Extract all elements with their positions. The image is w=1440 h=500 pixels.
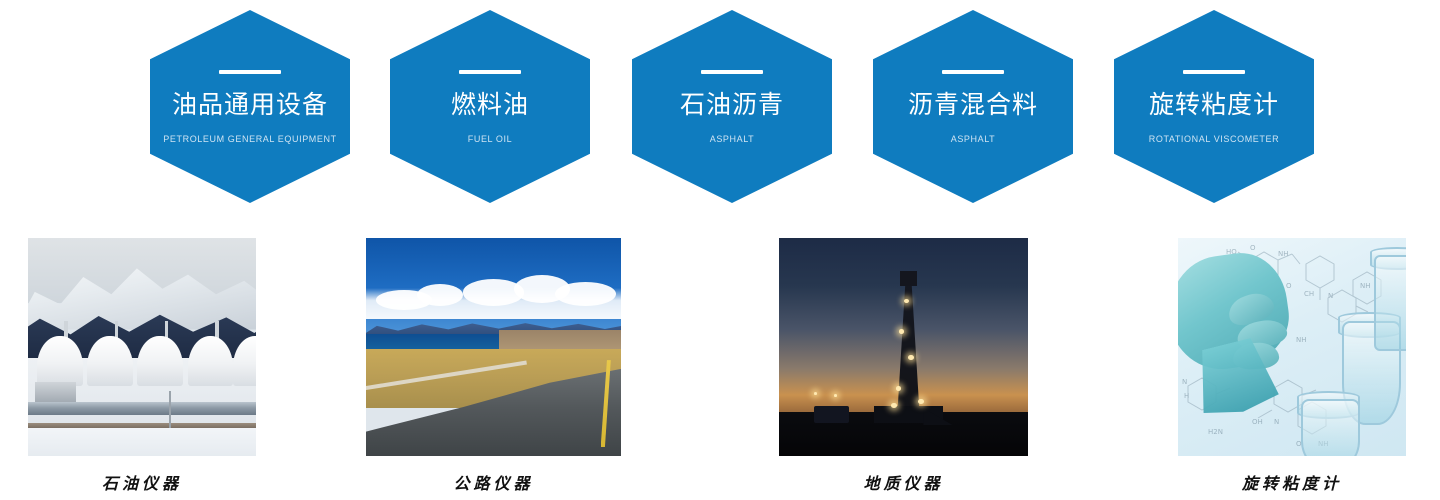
svg-text:O: O <box>1250 244 1256 252</box>
gallery-image-geological-instruments <box>779 238 1028 456</box>
svg-text:CH: CH <box>1304 290 1314 298</box>
gallery-image-rotational-viscometer: HO O NH HO O NH CH N NH N H H2N N OH <box>1178 238 1406 456</box>
category-showcase: 油品通用设备 PETROLEUM GENERAL EQUIPMENT 燃料油 F… <box>0 0 1440 500</box>
gallery-item-geological-instruments[interactable]: 地质仪器 <box>779 238 1028 494</box>
gallery-item-petroleum-instruments[interactable]: 石油仪器 <box>28 238 256 494</box>
svg-text:NH: NH <box>1360 282 1371 290</box>
svg-text:N: N <box>1328 292 1333 300</box>
gallery-image-highway-instruments <box>366 238 621 456</box>
gallery-item-highway-instruments[interactable]: 公路仪器 <box>366 238 621 494</box>
gallery-caption: 地质仪器 <box>779 470 1028 494</box>
gallery-caption: 石油仪器 <box>28 470 256 494</box>
gallery-caption: 公路仪器 <box>366 470 621 494</box>
svg-text:H: H <box>1184 392 1189 400</box>
svg-text:O: O <box>1286 282 1292 290</box>
gallery-caption: 旋转粘度计 <box>1178 470 1406 494</box>
svg-text:NH: NH <box>1296 336 1307 344</box>
gallery-image-petroleum-instruments <box>28 238 256 456</box>
gallery-row: 石油仪器 公路仪器 <box>0 0 1440 500</box>
svg-text:OH: OH <box>1252 418 1263 426</box>
gallery-item-rotational-viscometer[interactable]: HO O NH HO O NH CH N NH N H H2N N OH <box>1178 238 1406 494</box>
svg-text:NH: NH <box>1278 250 1289 258</box>
svg-text:H2N: H2N <box>1208 428 1223 436</box>
svg-text:N: N <box>1274 418 1279 426</box>
svg-text:N: N <box>1182 378 1187 386</box>
